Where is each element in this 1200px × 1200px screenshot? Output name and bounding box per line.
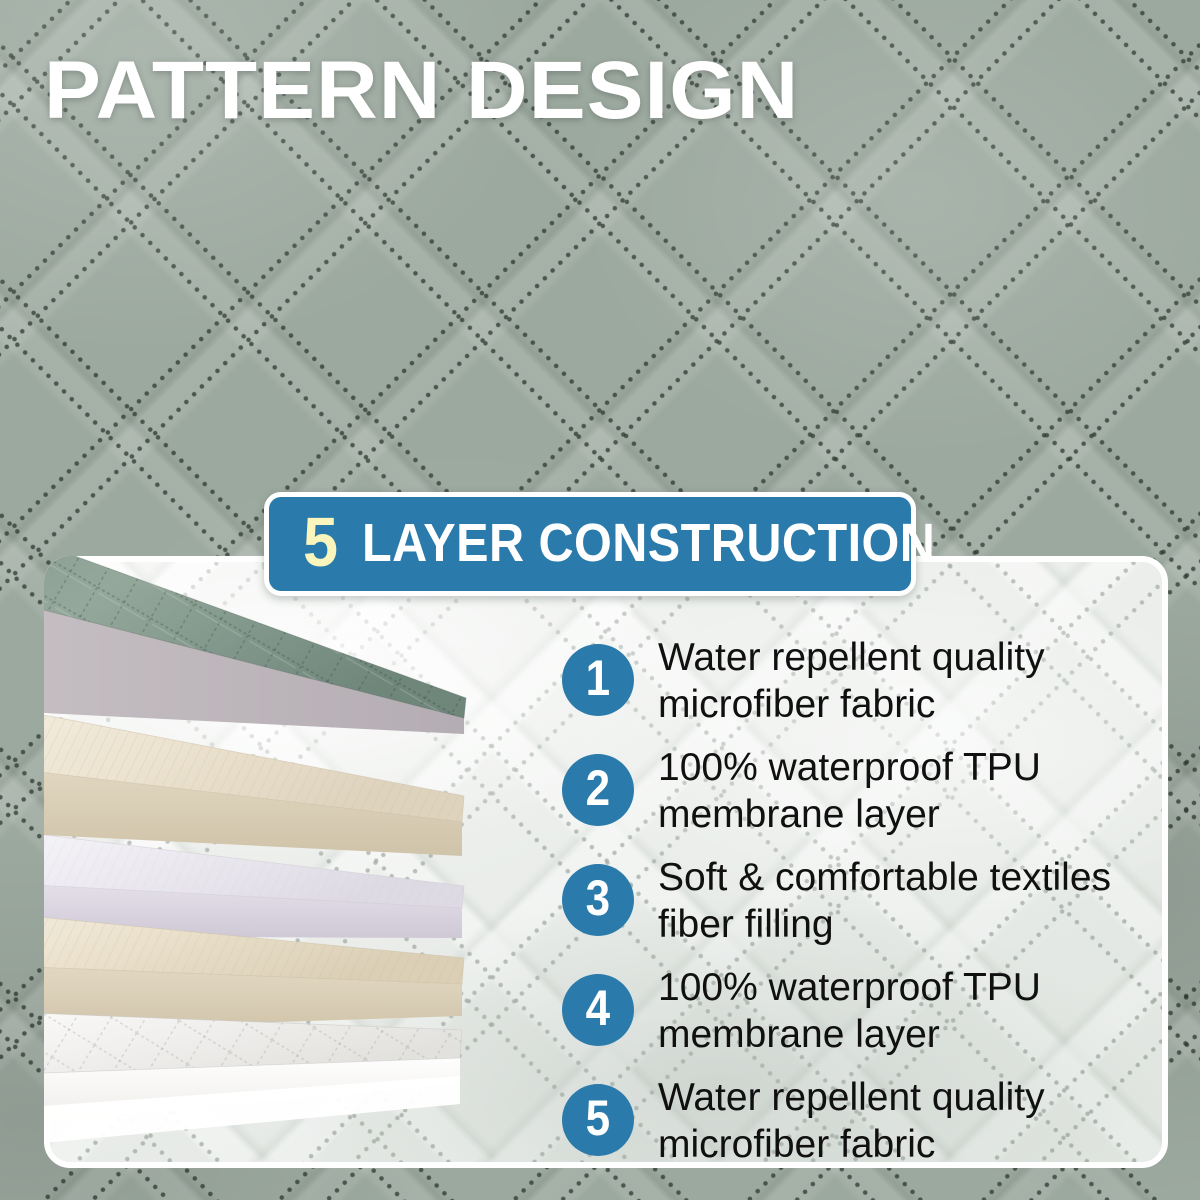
layer-badge-number: 3 [586, 873, 610, 923]
layer-description: 100% waterproof TPU membrane layer [658, 744, 1178, 838]
list-item: 1 Water repellent quality microfiber fab… [562, 636, 1182, 746]
list-item: 4 100% waterproof TPU membrane layer [562, 966, 1182, 1076]
list-item: 3 Soft & comfortable textiles fiber fill… [562, 856, 1182, 966]
banner-number: 5 [303, 507, 338, 577]
infographic-root: PATTERN DESIGN [0, 0, 1200, 1200]
slab-white-quilted-microfiber-bottom [44, 1008, 462, 1156]
five-layer-cutaway-diagram [44, 556, 564, 1168]
layer-description: Water repellent quality microfiber fabri… [658, 634, 1178, 728]
layer-badge-number: 2 [586, 763, 610, 813]
layer-construction-banner: 5 LAYER CONSTRUCTION [264, 492, 916, 596]
layer-badge-5: 5 [562, 1084, 634, 1156]
layer-badge-number: 1 [586, 653, 610, 703]
layer-description: Soft & comfortable textiles fiber fillin… [658, 854, 1178, 948]
layer-stack-svg [44, 556, 564, 1168]
layer-badge-2: 2 [562, 754, 634, 826]
layer-badge-3: 3 [562, 864, 634, 936]
layer-description: Water repellent quality microfiber fabri… [658, 1074, 1178, 1168]
layer-badge-1: 1 [562, 644, 634, 716]
layer-description: 100% waterproof TPU membrane layer [658, 964, 1178, 1058]
layer-badge-number: 4 [586, 983, 610, 1033]
list-item: 2 100% waterproof TPU membrane layer [562, 746, 1182, 856]
banner-label: LAYER CONSTRUCTION [362, 516, 935, 570]
list-item: 5 Water repellent quality microfiber fab… [562, 1076, 1182, 1186]
layer-badge-4: 4 [562, 974, 634, 1046]
layer-list: 1 Water repellent quality microfiber fab… [562, 636, 1182, 1186]
layer-badge-number: 5 [586, 1093, 610, 1143]
page-title: PATTERN DESIGN [44, 50, 799, 132]
